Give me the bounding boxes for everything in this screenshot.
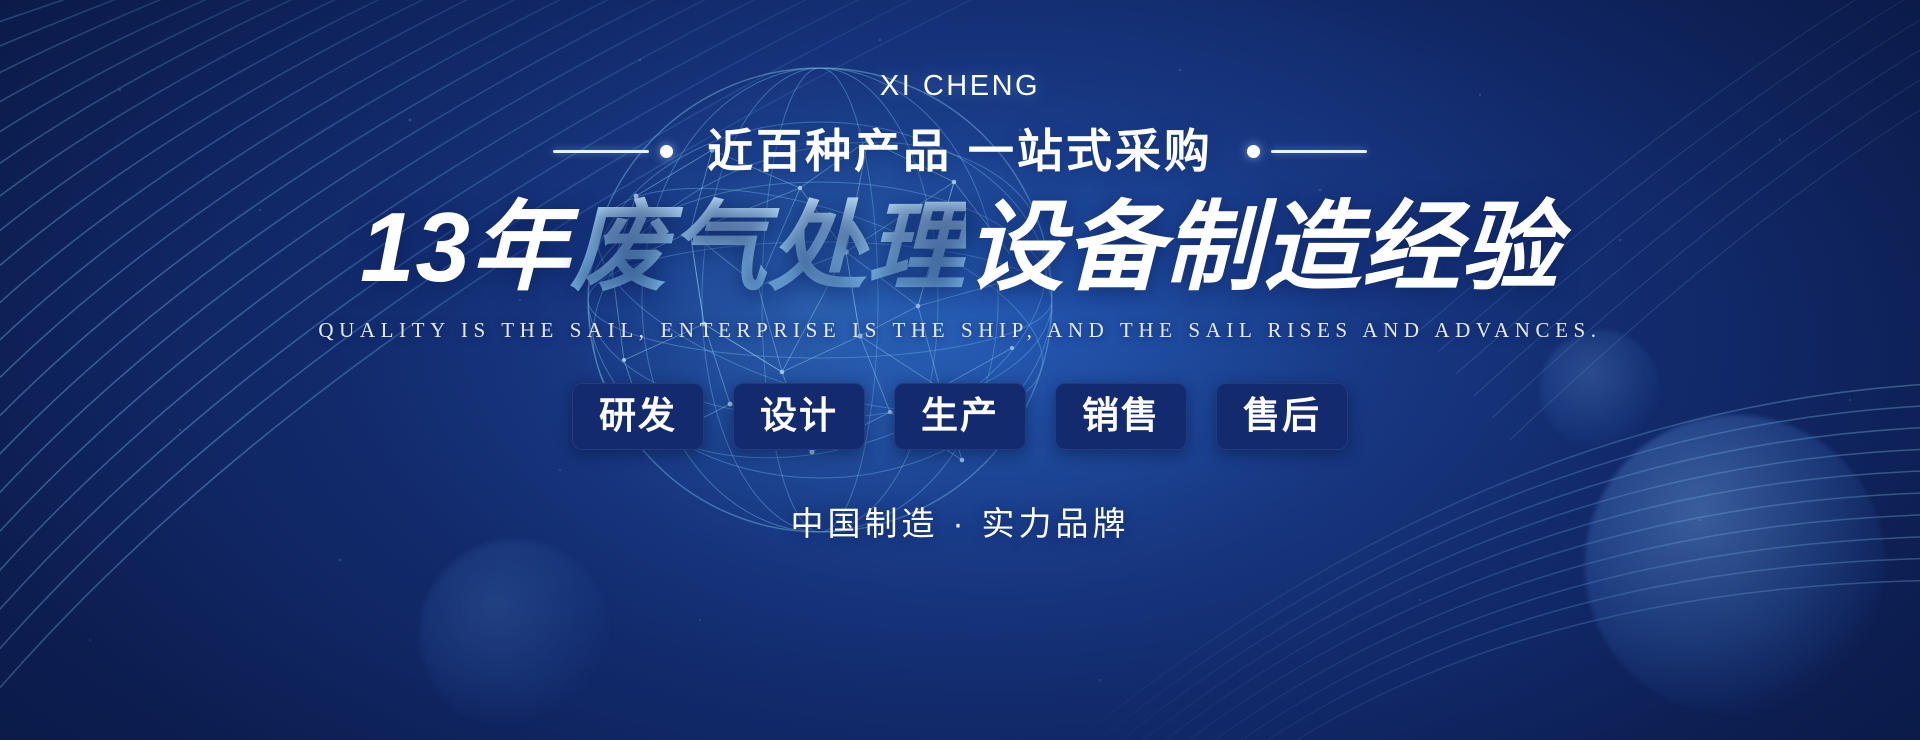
decorative-rule-right [1247,145,1367,158]
service-badge[interactable]: 设计 [733,383,865,450]
decorative-bar [1271,150,1367,153]
footnote-separator: · [939,505,982,542]
service-badge[interactable]: 研发 [572,383,704,450]
service-badge[interactable]: 售后 [1216,383,1348,450]
service-badge[interactable]: 生产 [894,383,1026,450]
banner-content: XI CHENG 近百种产品 一站式采购 13年废气处理设备制造经验 QUALI… [0,0,1920,740]
tagline-english: QUALITY IS THE SAIL, ENTERPRISE IS THE S… [318,318,1601,343]
footnote: 中国制造·实力品牌 [791,497,1130,545]
footnote-left: 中国制造 [791,505,939,542]
decorative-rule-left [553,145,673,158]
headline-trail: 设备制造经验 [966,192,1560,302]
decorative-dot [1247,145,1260,158]
promo-banner: XI CHENG 近百种产品 一站式采购 13年废气处理设备制造经验 QUALI… [0,0,1920,740]
subtitle-row: 近百种产品 一站式采购 [553,128,1367,174]
decorative-bar [553,150,649,153]
headline-highlight: 废气处理 [570,192,966,302]
subtitle-text: 近百种产品 一站式采购 [707,128,1213,174]
footnote-right: 实力品牌 [982,505,1130,542]
headline: 13年废气处理设备制造经验 [360,196,1560,300]
headline-lead: 13年 [360,192,570,302]
service-badge-list: 研发 设计 生产 销售 售后 [572,383,1348,450]
service-badge[interactable]: 销售 [1055,383,1187,450]
decorative-dot [660,145,673,158]
brand-name-english: XI CHENG [880,72,1040,101]
